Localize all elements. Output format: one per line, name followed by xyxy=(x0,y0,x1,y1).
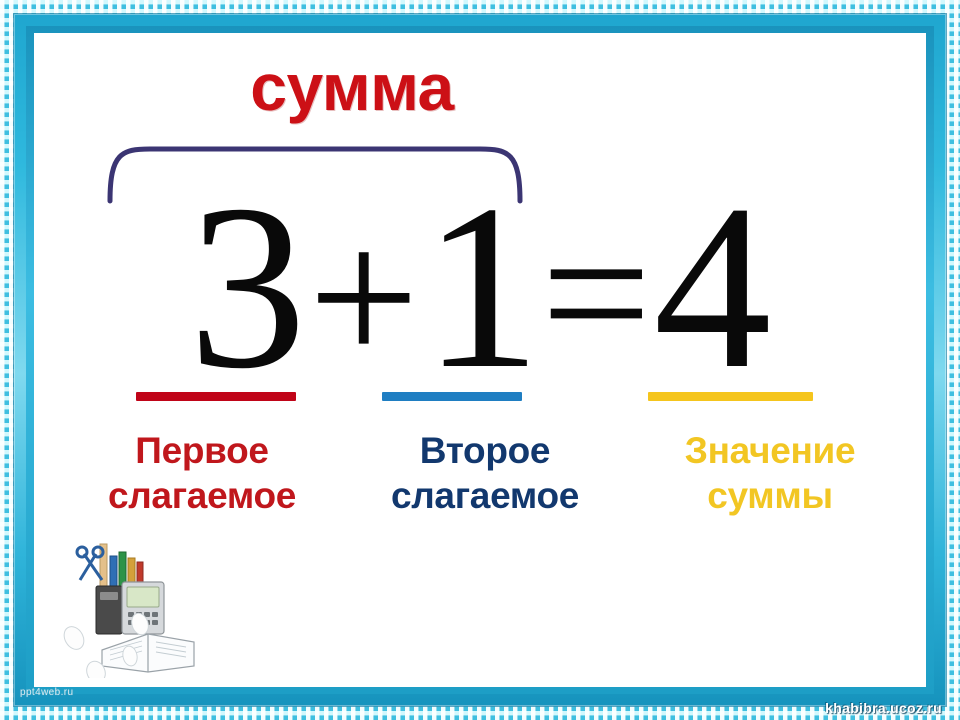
sum-value-underline xyxy=(648,392,813,401)
sum-value-label: Значение суммы xyxy=(620,428,920,518)
first-addend-underline xyxy=(136,392,296,401)
watermark-right: khabibra.ucoz.ru xyxy=(825,700,942,716)
underline-row xyxy=(0,392,960,401)
page-title: сумма xyxy=(0,54,960,120)
equation-row: 3 + 1 = 4 xyxy=(0,178,960,398)
first-addend-label-line2: слагаемое xyxy=(42,473,362,518)
second-addend: 1 xyxy=(423,179,541,396)
second-addend-label-line2: слагаемое xyxy=(340,473,630,518)
desk-supplies-clipart-icon xyxy=(44,538,254,678)
sum-value-label-line1: Значение xyxy=(685,430,856,471)
first-addend-label: Первое слагаемое xyxy=(42,428,362,518)
sum-value-label-line2: суммы xyxy=(620,473,920,518)
second-addend-underline xyxy=(382,392,522,401)
page-title-text: сумма xyxy=(250,54,454,120)
watermark-left: ppt4web.ru xyxy=(20,687,73,698)
addition-terms-poster: сумма 3 + 1 = 4 Первое слагаемое Второе … xyxy=(0,0,960,720)
sum-value: 4 xyxy=(654,179,772,396)
equals-operator: = xyxy=(541,204,652,384)
first-addend: 3 xyxy=(188,179,306,396)
second-addend-label: Второе слагаемое xyxy=(340,428,630,518)
plus-operator: + xyxy=(308,208,419,388)
second-addend-label-line1: Второе xyxy=(420,430,550,471)
first-addend-label-line1: Первое xyxy=(135,430,268,471)
